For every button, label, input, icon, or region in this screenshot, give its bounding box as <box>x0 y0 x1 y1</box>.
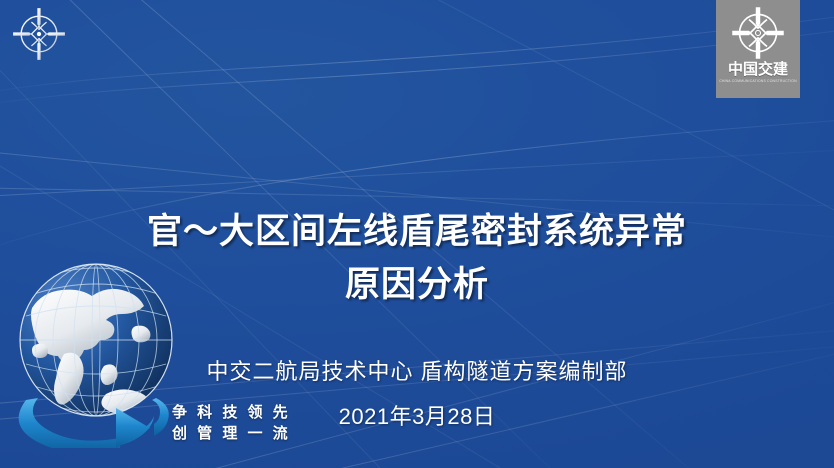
subtitle-organization: 中交二航局技术中心 盾构隧道方案编制部 <box>0 355 834 389</box>
slide-subtitle: 中交二航局技术中心 盾构隧道方案编制部 2021年3月28日 <box>0 355 834 434</box>
company-name-cn: 中国交建 <box>728 62 788 78</box>
company-logo-panel: 中国交建 CHINA COMMUNICATIONS CONSTRUCTION <box>716 0 800 98</box>
company-name-en: CHINA COMMUNICATIONS CONSTRUCTION <box>719 77 797 85</box>
slide-title: 官～大区间左线盾尾密封系统异常 原因分析 <box>0 205 834 311</box>
presentation-slide: 中国交建 CHINA COMMUNICATIONS CONSTRUCTION <box>0 0 834 468</box>
cccc-compass-emblem-icon <box>12 7 66 61</box>
title-line-1: 官～大区间左线盾尾密封系统异常 <box>0 205 834 258</box>
subtitle-date: 2021年3月28日 <box>0 400 834 434</box>
cccc-compass-emblem-icon <box>730 5 786 61</box>
title-line-2: 原因分析 <box>0 258 834 311</box>
